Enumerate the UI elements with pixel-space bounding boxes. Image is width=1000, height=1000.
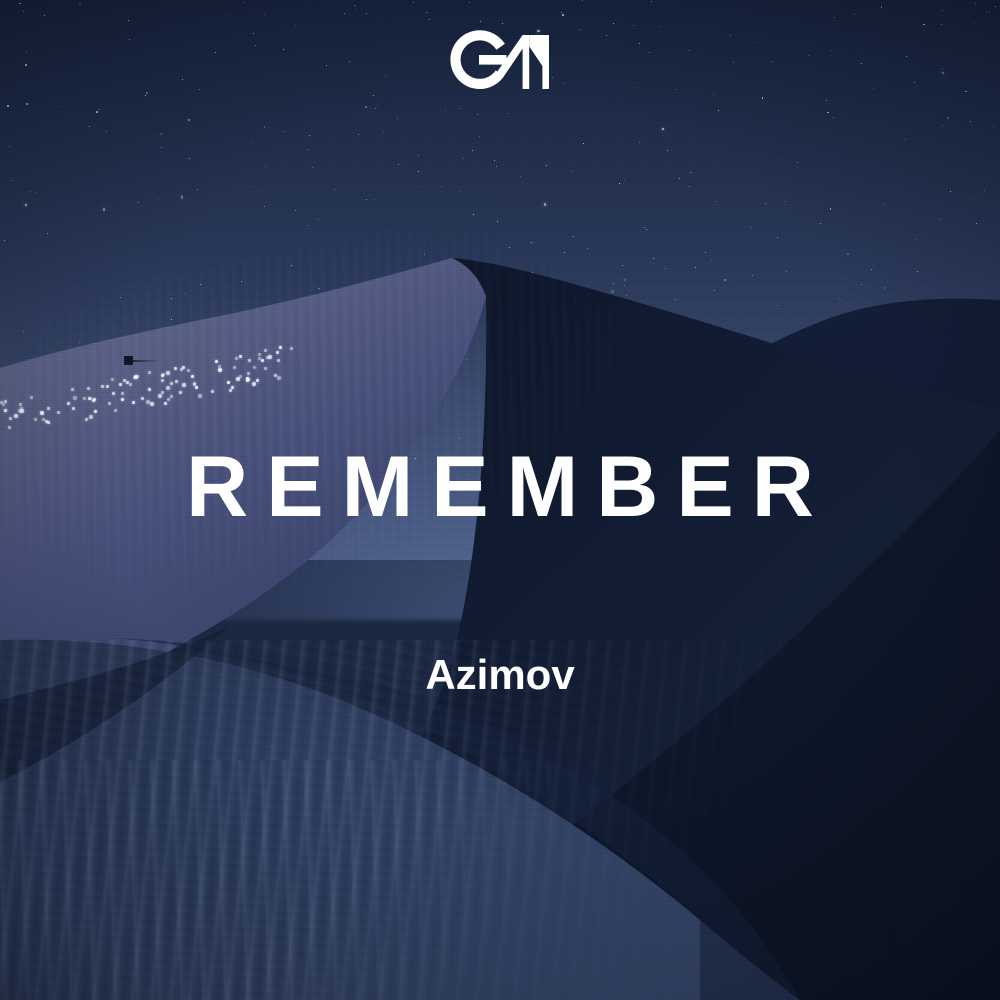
foreground-ripples-fine xyxy=(0,760,860,1000)
album-title: REMEMBER xyxy=(0,443,1000,531)
crest-light-specks xyxy=(0,330,300,440)
gm-monogram-logo[interactable] xyxy=(444,26,556,98)
ridge-silhouette xyxy=(124,356,133,365)
album-cover-artwork: REMEMBER Azimov xyxy=(0,0,1000,1000)
gm-monogram-icon xyxy=(444,26,556,98)
artist-name: Azimov xyxy=(0,652,1000,698)
